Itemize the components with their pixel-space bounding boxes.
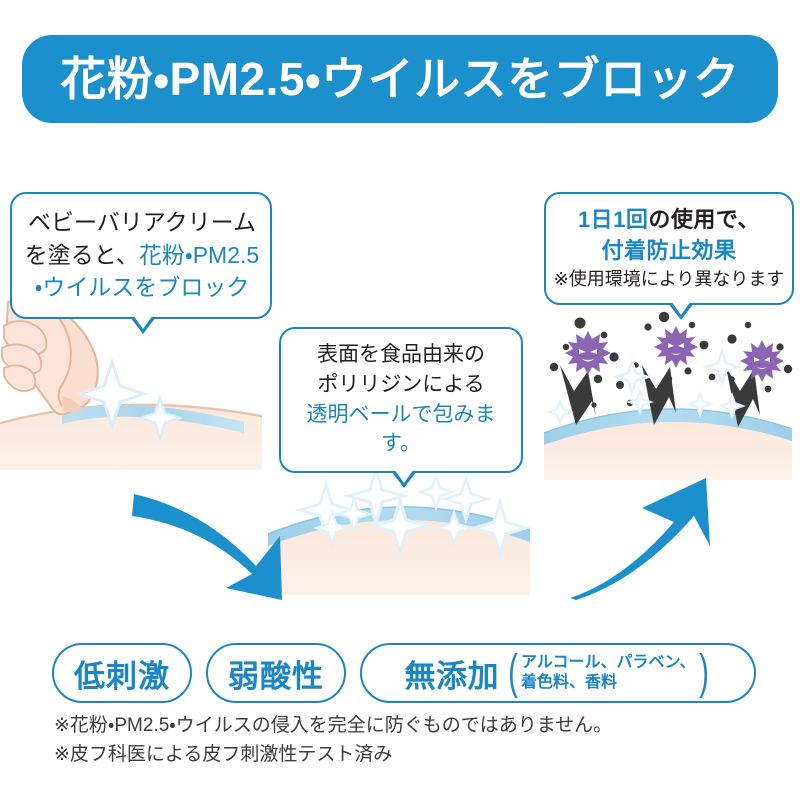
paren-close: ) [699,653,709,694]
panel-blocked-particles [536,305,800,480]
callout-left-tail-inner [133,315,153,329]
callout-right-line2: 付着防止効果 [552,235,786,266]
callout-left-line2: を塗ると、花粉・PM2.5 [24,239,260,272]
callout-mid-tail-inner [394,469,414,483]
paren-open: ( [508,653,518,694]
footnotes: ※花粉・PM2.5・ウイルスの侵入を完全に防ぐものではありません。 ※皮フ科医に… [54,712,784,769]
callout-left-line3: ・ウイルスをブロック [24,271,260,304]
callout-right-note: ※使用環境により異なります [552,267,786,293]
additive-line-1: アルコール、パラベン、 [521,653,696,673]
callout-right-line1-blue: 1日1回 [578,207,648,232]
badge-additive-free: 無添加 ( アルコール、パラベン、 着色料、香料 ) [360,643,756,703]
badge-additive-free-detail: ( アルコール、パラベン、 着色料、香料 ) [505,653,712,694]
callout-right-line1-black: の使用で、 [648,207,760,232]
sparkle-icon [549,401,571,423]
header-banner: 花粉・PM2.5・ウイルスをブロック [22,35,778,123]
badge-weakly-acidic: 弱酸性 [206,643,346,703]
flow-arrow-1 [130,470,310,600]
feature-badge-row: 低刺激 弱酸性 無添加 ( アルコール、パラベン、 着色料、香料 ) [0,640,800,706]
callout-left-line2-black: を塗ると、 [25,242,139,268]
callout-left-line1: ベビーバリアクリーム [24,206,260,239]
badge-additive-free-label: 無添加 [404,651,499,696]
callout-right-line1: 1日1回の使用で、 [552,204,786,235]
callout-veil: 表面を食品由来の ポリリジンによる 透明ベールで包みます。 [279,327,523,473]
callout-left-line2-blue: 花粉・PM2.5 [139,242,259,268]
bounce-arrow-icon [560,365,596,425]
flow-arrow-2 [570,460,740,600]
virus-icon [654,326,698,368]
callout-once-a-day: 1日1回の使用で、 付着防止効果 ※使用環境により異なります [544,192,794,305]
footnote-line-1: ※花粉・PM2.5・ウイルスの侵入を完全に防ぐものではありません。 [54,712,784,741]
footnote-line-2: ※皮フ科医による皮フ刺激性テスト済み [54,741,784,770]
badge-low-irritation: 低刺激 [52,643,192,703]
callout-mid-line3: 透明ベールで包みます。 [289,400,513,460]
additive-line-2: 着色料、香料 [521,673,696,693]
sparkle-icon [420,476,452,508]
callout-mid-line2: ポリリジンによる [289,370,513,400]
callout-mid-line1: 表面を食品由来の [289,340,513,370]
page-title: 花粉・PM2.5・ウイルスをブロック [60,56,739,102]
callout-right-tail-inner [671,301,691,315]
callout-apply-cream: ベビーバリアクリーム を塗ると、花粉・PM2.5 ・ウイルスをブロック [10,192,272,319]
